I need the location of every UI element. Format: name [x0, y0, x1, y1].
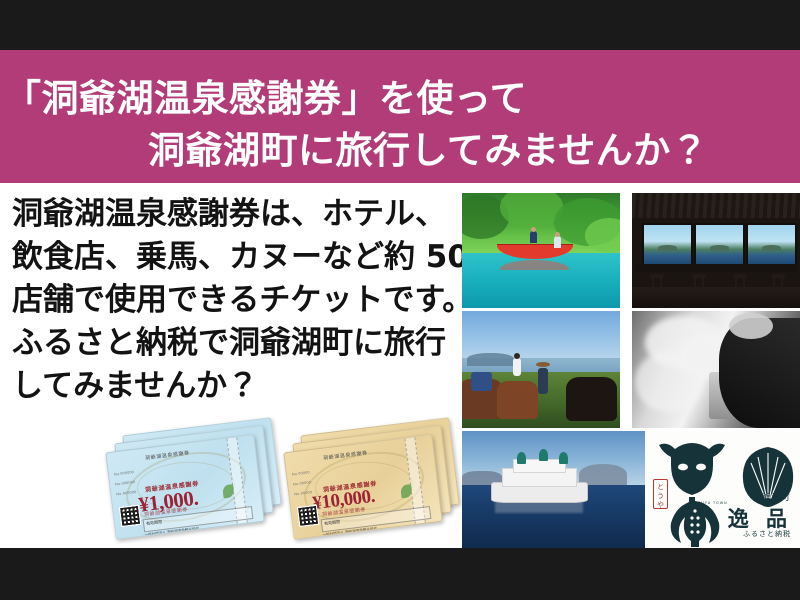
- cook-hand: [729, 313, 773, 339]
- horse: [497, 381, 538, 418]
- body-copy-line: 店舗で使用できるチケットです。: [12, 279, 462, 322]
- mountain-silhouette: [762, 245, 781, 250]
- logo-town-name: 洞爺湖町: [752, 491, 791, 503]
- headline-line-1: 「洞爺湖温泉感謝券」を使って: [4, 68, 527, 122]
- photo-steam-kitchen-bw: [632, 311, 800, 428]
- header-band: 「洞爺湖温泉感謝券」を使って 洞爺湖町に旅行してみませんか？: [0, 50, 800, 183]
- voucher-card-front: 洞爺湖温泉感謝券 No.00000 No.00000 No.00000 洞爺湖温…: [283, 434, 443, 540]
- voucher-images: 洞爺湖温泉感謝券 No.000000 No.000000 No.000000 洞…: [0, 420, 462, 548]
- photo-canoe-on-lake: [462, 193, 620, 308]
- ship-dome: [517, 452, 526, 464]
- voucher-serial: No.00000: [292, 470, 310, 476]
- poster-canvas: 「洞爺湖温泉感謝券」を使って 洞爺湖町に旅行してみませんか？ 洞爺湖温泉感謝券は…: [0, 50, 800, 548]
- body-copy-line: 洞爺湖温泉感謝券は、ホテル、: [12, 193, 462, 236]
- paddler: [530, 231, 537, 243]
- stool: [650, 274, 664, 291]
- voucher-footer-label: 有効期限: [324, 519, 341, 527]
- body-copy-line: してみませんか？: [12, 365, 462, 408]
- mountain-silhouette: [658, 245, 677, 250]
- rider: [513, 358, 521, 376]
- voucher-fan-1000: 洞爺湖温泉感謝券 No.000000 No.000000 No.000000 洞…: [110, 426, 275, 530]
- horse: [566, 377, 617, 421]
- paddler: [554, 236, 561, 248]
- voucher-footer-label: 有効期限: [146, 519, 163, 527]
- photo-grid: とうや TOUYA TOWN 洞爺湖町 逸 品 ふるさと納税: [462, 193, 800, 548]
- handler: [538, 368, 548, 394]
- logo-artwork: とうや TOUYA TOWN 洞爺湖町 逸 品 ふるさと納税: [645, 431, 800, 548]
- logo-furusato-tax: ふるさと納税: [743, 529, 791, 539]
- bench: [635, 264, 796, 272]
- window-pane: [746, 223, 797, 266]
- stool: [692, 274, 706, 291]
- body-copy: 洞爺湖温泉感謝券は、ホテル、 飲食店、乗馬、カヌーなど約 50 店舗で使用できる…: [12, 193, 462, 408]
- letterbox-top: [0, 0, 800, 50]
- body-copy-line: ふるさと納税で洞爺湖町に旅行: [12, 322, 462, 365]
- letterbox-bottom: [0, 548, 800, 600]
- stool: [771, 274, 785, 291]
- photo-lake-view-interior: [632, 193, 800, 308]
- window-pane: [694, 223, 745, 266]
- qr-code-icon: [297, 505, 319, 527]
- brand-logo-panel: とうや TOUYA TOWN 洞爺湖町 逸 品 ふるさと納税: [645, 431, 800, 548]
- body-copy-line: 飲食店、乗馬、カヌーなど約 50: [12, 236, 462, 279]
- voucher-fan-10000: 洞爺湖温泉感謝券 No.00000 No.00000 No.00000 洞爺湖温…: [288, 426, 453, 530]
- headline-line-2: 洞爺湖町に旅行してみませんか？: [148, 120, 708, 174]
- island-silhouette: [467, 353, 514, 366]
- window-pane: [642, 223, 693, 266]
- stool: [733, 274, 747, 291]
- voucher-card-front: 洞爺湖温泉感謝券 No.000000 No.000000 No.000000 洞…: [105, 434, 265, 540]
- photo-horseback-riding: [462, 311, 620, 428]
- mountain-silhouette: [710, 245, 729, 250]
- voucher-serial: No.000000: [114, 470, 135, 476]
- qr-code-icon: [119, 505, 141, 527]
- photo-sightseeing-cruise: [462, 431, 645, 548]
- saddle-bag: [471, 372, 492, 391]
- wooden-ceiling: [632, 193, 800, 218]
- rice-ear-icon: [671, 501, 720, 547]
- toya-seal-stamp: とうや: [653, 479, 668, 509]
- ship-dome: [539, 449, 548, 461]
- ship-dome: [559, 452, 568, 464]
